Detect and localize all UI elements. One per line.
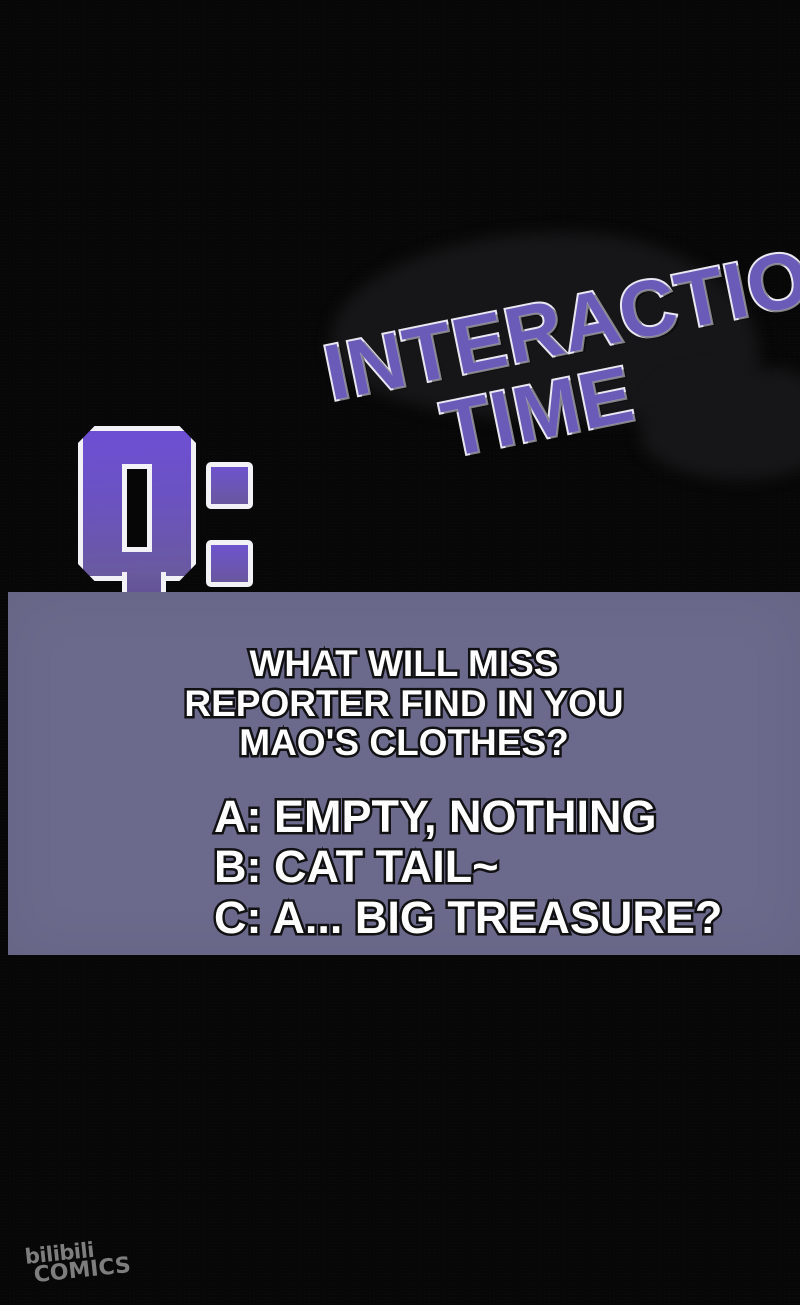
question-line-2: REPORTER FIND IN YOU	[8, 684, 800, 724]
answer-options-list: A: EMPTY, NOTHING B: CAT TAIL~ C: A... B…	[214, 792, 722, 943]
background-silhouette-tail-shape	[640, 368, 800, 480]
watermark-line-comics: COMICS	[33, 1256, 132, 1286]
q-colon-top-dot	[206, 462, 253, 509]
answer-option-a: A: EMPTY, NOTHING	[214, 792, 722, 842]
answer-option-c: C: A... BIG TREASURE?	[214, 893, 722, 943]
bilibili-comics-watermark: bilibili COMICS	[24, 1237, 132, 1287]
q-letter-counter	[122, 464, 152, 552]
answer-option-b: B: CAT TAIL~	[214, 842, 722, 892]
caption-panel: WHAT WILL MISS REPORTER FIND IN YOU MAO'…	[8, 592, 800, 955]
question-line-3: MAO'S CLOTHES?	[8, 723, 800, 763]
question-text-block: WHAT WILL MISS REPORTER FIND IN YOU MAO'…	[8, 644, 800, 763]
comic-page: INTERACTION TIME WHAT WILL MISS REPORTER…	[0, 0, 800, 1305]
question-line-1: WHAT WILL MISS	[8, 644, 800, 684]
q-colon-bottom-dot	[206, 540, 253, 587]
